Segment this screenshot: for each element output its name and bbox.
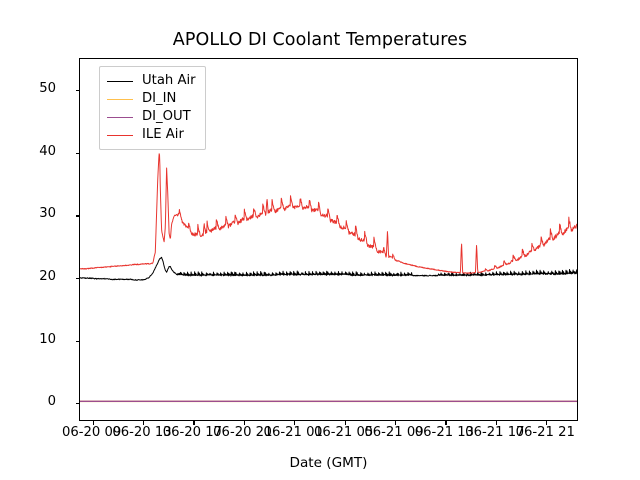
y-tick-label: 50 xyxy=(16,81,56,96)
y-tick-label: 20 xyxy=(16,269,56,284)
legend-label-di-in: DI_IN xyxy=(142,90,176,108)
legend-label-ile-air: ILE Air xyxy=(142,126,184,144)
x-tick-mark xyxy=(345,420,346,425)
y-tick-mark xyxy=(76,215,81,216)
y-tick-label: 10 xyxy=(16,332,56,347)
y-tick-label: 0 xyxy=(16,394,56,409)
figure: APOLLO DI Coolant Temperatures Temperatu… xyxy=(0,0,640,480)
x-tick-mark xyxy=(143,420,144,425)
x-tick-mark xyxy=(445,420,446,425)
y-tick-mark xyxy=(76,153,81,154)
y-tick-mark xyxy=(76,90,81,91)
legend-item: DI_IN xyxy=(107,90,196,108)
legend-item: ILE Air xyxy=(107,126,196,144)
legend-item: DI_OUT xyxy=(107,108,196,126)
legend-swatch-di-in xyxy=(107,99,133,100)
legend-swatch-di-out xyxy=(107,117,133,118)
plot-area: Utah Air DI_IN DI_OUT ILE Air xyxy=(79,58,578,421)
x-tick-mark xyxy=(193,420,194,425)
x-tick-mark xyxy=(395,420,396,425)
series-line-utah-air xyxy=(80,257,577,280)
y-tick-label: 30 xyxy=(16,206,56,221)
x-tick-mark xyxy=(294,420,295,425)
chart-title: APOLLO DI Coolant Temperatures xyxy=(0,30,640,50)
y-tick-mark xyxy=(76,403,81,404)
chart-legend: Utah Air DI_IN DI_OUT ILE Air xyxy=(99,66,206,150)
x-tick-mark xyxy=(546,420,547,425)
y-tick-mark xyxy=(76,278,81,279)
legend-swatch-utah-air xyxy=(107,81,133,82)
x-tick-mark xyxy=(244,420,245,425)
y-tick-mark xyxy=(76,341,81,342)
series-line-ile-air xyxy=(80,154,577,274)
y-tick-label: 40 xyxy=(16,144,56,159)
x-tick-mark xyxy=(93,420,94,425)
legend-swatch-ile-air xyxy=(107,135,133,136)
legend-item: Utah Air xyxy=(107,72,196,90)
legend-label-utah-air: Utah Air xyxy=(142,72,196,90)
x-tick-mark xyxy=(496,420,497,425)
x-tick-label: 06-21 21 xyxy=(516,425,575,440)
legend-label-di-out: DI_OUT xyxy=(142,108,191,126)
x-axis-label: Date (GMT) xyxy=(79,455,578,471)
